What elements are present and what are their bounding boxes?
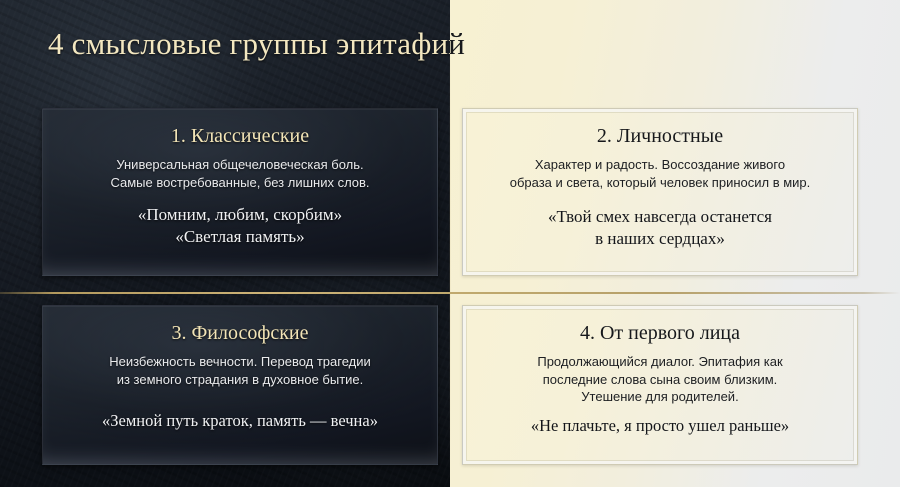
card-first-person[interactable]: 4. От первого лица Продолжающийся диалог… [462,305,858,465]
text-line: «Земной путь краток, память — вечна» [61,410,419,431]
card-quote: «Земной путь краток, память — вечна» [61,410,419,431]
card-description: Неизбежность вечности. Перевод трагедиии… [61,353,419,388]
card-heading: 3. Философские [61,322,419,344]
text-line: «Светлая память» [61,226,419,248]
text-line: Неизбежность вечности. Перевод трагедии [61,353,419,371]
card-quote: «Не плачьте, я просто ушел раньше» [481,415,839,436]
text-line: «Помним, любим, скорбим» [61,204,419,226]
card-philosophical[interactable]: 3. Философские Неизбежность вечности. Пе… [42,305,438,465]
text-line: из земного страдания в духовное бытие. [61,371,419,389]
card-description: Универсальная общечеловеческая боль.Самы… [61,156,419,191]
card-description: Характер и радость. Воссоздание живогооб… [481,156,839,191]
text-line: образа и света, который человек приносил… [481,174,839,192]
text-line: Характер и радость. Воссоздание живого [481,156,839,174]
horizontal-gold-divider [0,292,900,294]
card-heading: 4. От первого лица [481,322,839,344]
card-quote: «Твой смех навсегда останетсяв наших сер… [481,206,839,250]
text-line: Самые востребованные, без лишних слов. [61,174,419,192]
text-line: последние слова сына своим близким. [481,371,839,389]
card-classic[interactable]: 1. Классические Универсальная общечелове… [42,108,438,276]
text-line: в наших сердцах» [481,228,839,250]
card-heading: 1. Классические [61,125,419,147]
text-line: Универсальная общечеловеческая боль. [61,156,419,174]
card-quote: «Помним, любим, скорбим»«Светлая память» [61,204,419,248]
text-line: Утешение для родителей. [481,388,839,406]
card-heading: 2. Личностные [481,125,839,147]
slide-root: 4 смысловые группы эпитафий 4 смысловые … [0,0,900,487]
vertical-divider [449,0,451,487]
text-line: «Не плачьте, я просто ушел раньше» [481,415,839,436]
text-line: Продолжающийся диалог. Эпитафия как [481,353,839,371]
text-line: «Твой смех навсегда останется [481,206,839,228]
card-description: Продолжающийся диалог. Эпитафия какпосле… [481,353,839,406]
card-personal[interactable]: 2. Личностные Характер и радость. Воссоз… [462,108,858,276]
